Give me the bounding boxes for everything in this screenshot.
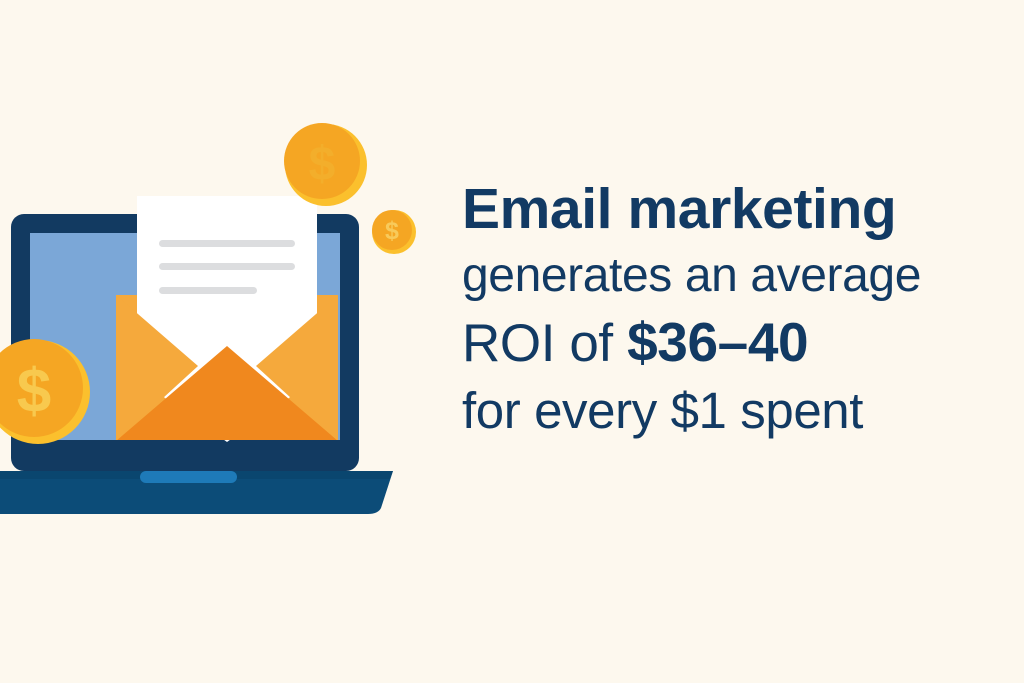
svg-text:$: $ [385,217,399,245]
headline-line-3-prefix: ROI of [462,314,627,373]
headline-line-1: Email marketing [462,176,962,242]
letter-line-3 [159,287,257,294]
svg-text:$: $ [309,138,336,191]
headline-block: Email marketing generates an average ROI… [462,176,962,444]
headline-line-2: generates an average [462,244,962,308]
headline-line-3: ROI of $36–40 [462,308,962,378]
svg-text:$: $ [17,357,51,426]
letter-line-1 [159,240,295,247]
infographic-canvas: $ $ $ Email marketing generates an avera… [0,0,1024,683]
headline-roi-value: $36–40 [627,311,808,373]
laptop-base [0,471,393,514]
coin-top-right-large: $ [284,123,367,206]
headline-line-4: for every $1 spent [462,378,962,444]
email-marketing-illustration: $ $ $ [0,0,440,683]
trackpad-notch [140,471,237,483]
letter-line-2 [159,263,295,270]
coin-middle-small: $ [372,210,416,254]
